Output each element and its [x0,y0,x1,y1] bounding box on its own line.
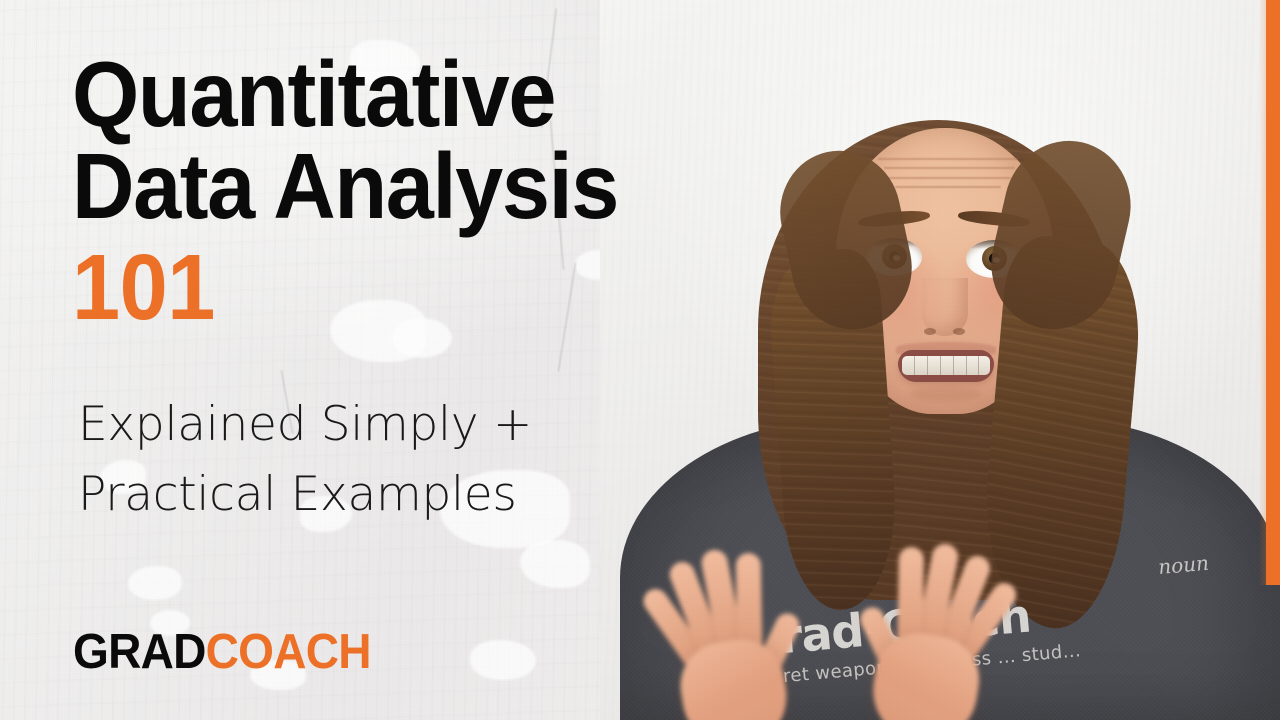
nostril-right [953,328,965,335]
title-block: Quantitative Data Analysis 101 Explained… [72,48,872,529]
teeth [902,356,990,375]
subtitle-line-1: Explained Simply + [78,390,872,460]
orange-accent-bar [1266,0,1280,585]
video-thumbnail: rad·Coach noun ret weapon of success ...… [0,0,1280,720]
course-number: 101 [72,240,816,335]
mouth-grimace [898,350,994,382]
accent-bar-glow [1259,0,1266,585]
forehead-lines [878,156,1018,192]
subtitle: Explained Simply + Practical Examples [78,390,872,529]
logo-text-grad: GRAD [73,625,206,679]
chin-shadow [910,386,982,402]
headline-line-2: Data Analysis [72,140,816,232]
gradcoach-logo: GRADCOACH [73,624,371,680]
headline-line-1: Quantitative [72,42,555,146]
nostril-left [924,328,936,335]
logo-text-coach: COACH [206,625,371,679]
page-title: Quantitative Data Analysis [72,48,816,232]
subtitle-line-2: Practical Examples [78,460,872,530]
